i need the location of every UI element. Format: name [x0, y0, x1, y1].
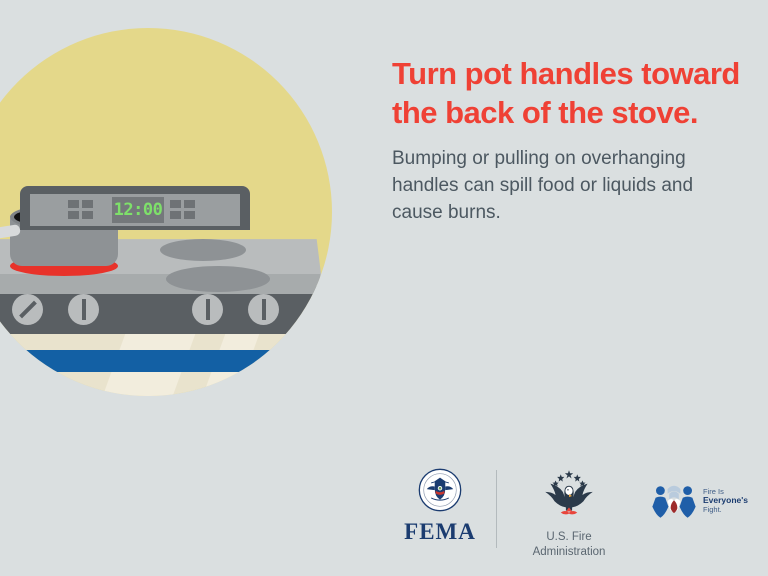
usfa-logo[interactable]: U.S. Fire Administration: [510, 468, 628, 559]
knob-slot-icon: [19, 301, 37, 319]
front-right-burner: [166, 266, 270, 292]
fief-line-3: Fight.: [703, 506, 748, 514]
agency-logo-row: FEMA U.S. Fire: [392, 466, 752, 558]
panel-buttons-left[interactable]: [68, 200, 93, 219]
safety-poster: 12:00 Turn pot handles toward the back o…: [0, 0, 768, 576]
knob-slot-icon: [82, 299, 86, 320]
usfa-eagle-icon: [538, 468, 600, 522]
panel-button: [184, 200, 195, 208]
usfa-line-2: Administration: [510, 545, 628, 560]
panel-button-column: [68, 200, 79, 219]
panel-button: [170, 211, 181, 219]
headline: Turn pot handles toward the back of the …: [392, 54, 742, 132]
panel-button-column: [184, 200, 195, 219]
fief-wordmark: Fire Is Everyone's Fight.: [703, 488, 748, 514]
usfa-line-1: U.S. Fire: [510, 530, 628, 545]
panel-button: [184, 211, 195, 219]
panel-button: [170, 200, 181, 208]
fire-is-everyones-fight-logo[interactable]: Fire Is Everyone's Fight.: [650, 480, 760, 522]
message-block: Turn pot handles toward the back of the …: [392, 54, 742, 227]
burner-knob-2[interactable]: [68, 294, 99, 325]
burner-knob-4[interactable]: [248, 294, 279, 325]
burner-knob-3[interactable]: [192, 294, 223, 325]
fema-wordmark: FEMA: [394, 519, 486, 545]
stove-illustration: 12:00: [0, 0, 390, 430]
knob-slot-icon: [262, 299, 266, 320]
oven-door-blue-stripe: [0, 350, 330, 372]
cooktop-front-edge: [0, 274, 320, 294]
panel-button: [82, 200, 93, 208]
usfa-wordmark: U.S. Fire Administration: [510, 530, 628, 559]
logo-divider: [496, 470, 497, 548]
dhs-seal-icon: [418, 468, 462, 512]
panel-button-column: [82, 200, 93, 219]
panel-button: [82, 211, 93, 219]
illustration-clip: 12:00: [0, 28, 332, 396]
panel-buttons-right[interactable]: [170, 200, 195, 219]
fema-logo[interactable]: FEMA: [394, 468, 486, 545]
burner-knob-1[interactable]: [12, 294, 43, 325]
body-text: Bumping or pulling on overhanging handle…: [392, 146, 742, 227]
oven-clock-display: 12:00: [112, 197, 164, 223]
panel-button: [68, 211, 79, 219]
panel-button: [68, 200, 79, 208]
panel-button-column: [170, 200, 181, 219]
fire-is-everyones-fight-icon: [650, 480, 698, 522]
knob-slot-icon: [206, 299, 210, 320]
rear-burner: [160, 239, 246, 261]
